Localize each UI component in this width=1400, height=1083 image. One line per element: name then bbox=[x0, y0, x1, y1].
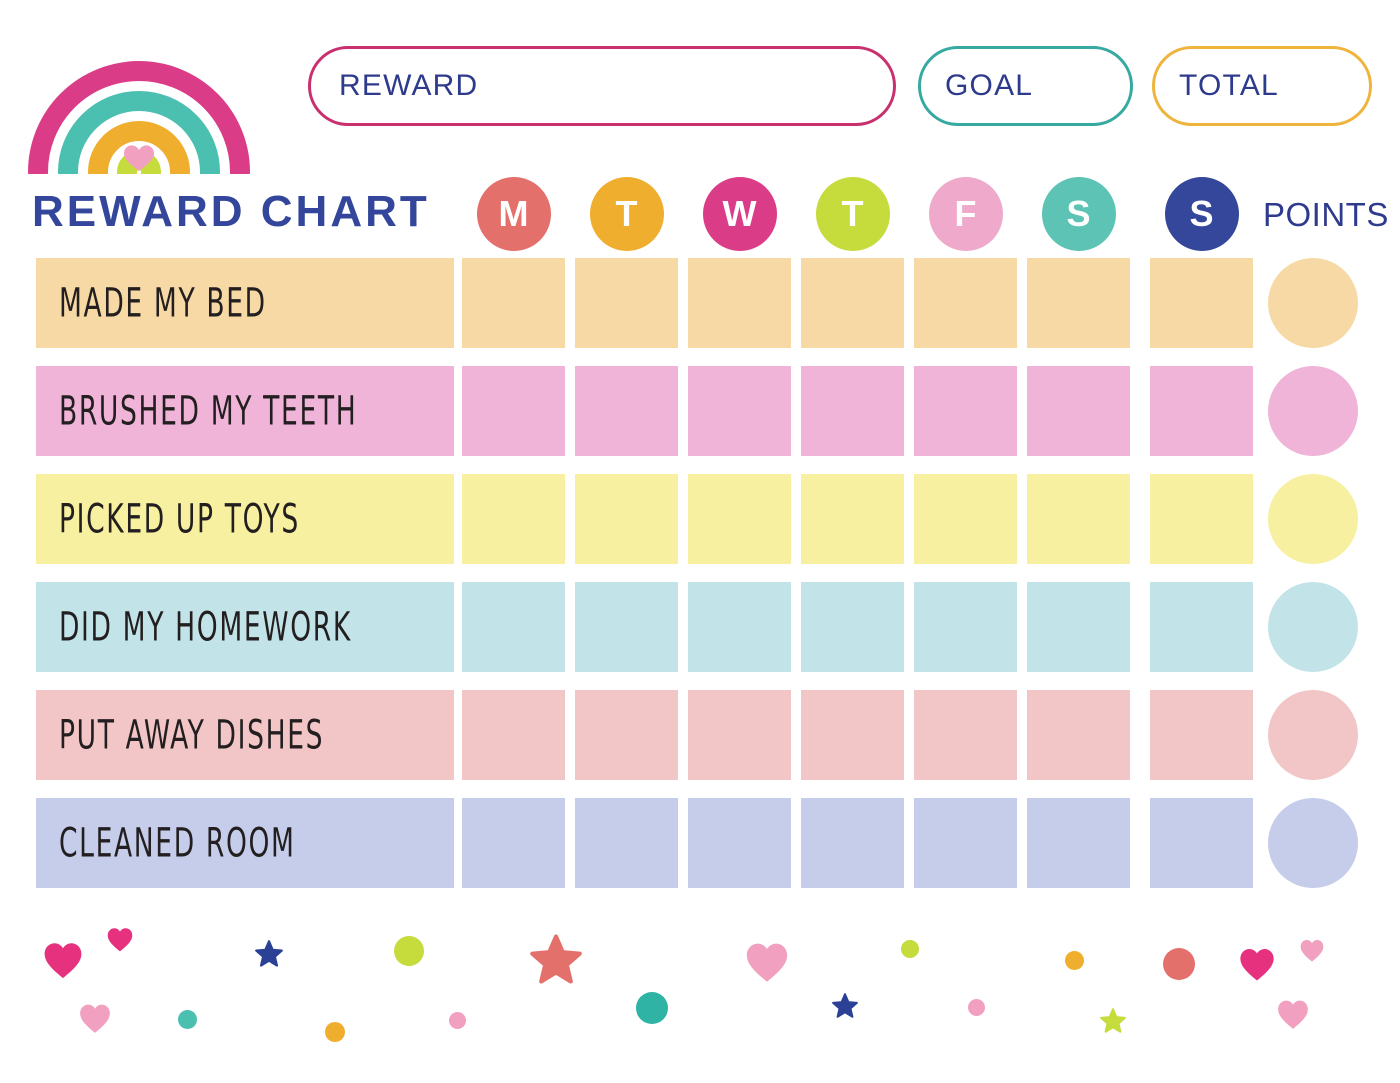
star-coral-icon bbox=[530, 934, 582, 991]
checkbox-cell-monday[interactable] bbox=[462, 474, 565, 564]
checkbox-cell-friday[interactable] bbox=[914, 474, 1017, 564]
checkbox-cell-tuesday[interactable] bbox=[575, 690, 678, 780]
header-bar: REWARD GOAL TOTAL bbox=[0, 0, 1400, 175]
reward-input[interactable]: REWARD bbox=[308, 46, 896, 126]
day-letter: T bbox=[616, 193, 638, 235]
points-circle[interactable] bbox=[1268, 474, 1358, 564]
table-row: PUT AWAY DISHES bbox=[0, 690, 1400, 780]
task-label: BRUSHED MY TEETH bbox=[36, 388, 357, 434]
checkbox-cell-wednesday[interactable] bbox=[688, 366, 791, 456]
day-letter: F bbox=[955, 193, 977, 235]
points-circle[interactable] bbox=[1268, 582, 1358, 672]
points-circle[interactable] bbox=[1268, 690, 1358, 780]
checkbox-cell-friday[interactable] bbox=[914, 258, 1017, 348]
heart-pink-icon bbox=[1299, 938, 1325, 969]
checkbox-cell-saturday[interactable] bbox=[1027, 366, 1130, 456]
day-letter: S bbox=[1066, 193, 1090, 235]
checkbox-cell-thursday[interactable] bbox=[801, 474, 904, 564]
day-circle-sunday[interactable]: S bbox=[1165, 177, 1239, 251]
dot-teal-icon bbox=[636, 992, 668, 1024]
task-label-cell[interactable]: PICKED UP TOYS bbox=[36, 474, 454, 564]
checkbox-cell-thursday[interactable] bbox=[801, 582, 904, 672]
task-label-cell[interactable]: PUT AWAY DISHES bbox=[36, 690, 454, 780]
task-label-cell[interactable]: DID MY HOMEWORK bbox=[36, 582, 454, 672]
day-circle-monday[interactable]: M bbox=[477, 177, 551, 251]
checkbox-cell-monday[interactable] bbox=[462, 258, 565, 348]
star-navy-icon bbox=[832, 993, 858, 1024]
dot-lime-icon bbox=[394, 936, 424, 966]
checkbox-cell-saturday[interactable] bbox=[1027, 798, 1130, 888]
total-input[interactable]: TOTAL bbox=[1152, 46, 1372, 126]
day-circle-friday[interactable]: F bbox=[929, 177, 1003, 251]
task-label-cell[interactable]: MADE MY BED bbox=[36, 258, 454, 348]
checkbox-cell-thursday[interactable] bbox=[801, 258, 904, 348]
checkbox-cell-friday[interactable] bbox=[914, 582, 1017, 672]
heart-pink-icon bbox=[78, 1002, 112, 1041]
checkbox-cell-saturday[interactable] bbox=[1027, 690, 1130, 780]
checkbox-cell-wednesday[interactable] bbox=[688, 798, 791, 888]
goal-input-label: GOAL bbox=[921, 69, 1033, 103]
checkbox-cell-saturday[interactable] bbox=[1027, 582, 1130, 672]
day-letter: S bbox=[1189, 193, 1213, 235]
heart-magenta-icon bbox=[1238, 946, 1276, 989]
dot-coral-icon bbox=[1163, 948, 1195, 980]
decoration-layer bbox=[0, 910, 1400, 1083]
reward-input-label: REWARD bbox=[311, 69, 478, 103]
dot-amber-icon bbox=[325, 1022, 345, 1042]
heart-pink-icon bbox=[744, 940, 790, 991]
checkbox-cell-sunday[interactable] bbox=[1150, 690, 1253, 780]
points-circle[interactable] bbox=[1268, 258, 1358, 348]
day-circle-saturday[interactable]: S bbox=[1042, 177, 1116, 251]
table-row: DID MY HOMEWORK bbox=[0, 582, 1400, 672]
checkbox-cell-tuesday[interactable] bbox=[575, 258, 678, 348]
day-letter: M bbox=[499, 193, 529, 235]
table-row: CLEANED ROOM bbox=[0, 798, 1400, 888]
goal-input[interactable]: GOAL bbox=[918, 46, 1133, 126]
task-label: PUT AWAY DISHES bbox=[36, 712, 324, 758]
checkbox-cell-wednesday[interactable] bbox=[688, 258, 791, 348]
checkbox-cell-sunday[interactable] bbox=[1150, 474, 1253, 564]
checkbox-cell-saturday[interactable] bbox=[1027, 474, 1130, 564]
total-input-label: TOTAL bbox=[1155, 69, 1279, 103]
checkbox-cell-wednesday[interactable] bbox=[688, 582, 791, 672]
points-column-header: POINTS bbox=[1263, 196, 1389, 234]
checkbox-cell-sunday[interactable] bbox=[1150, 366, 1253, 456]
checkbox-cell-tuesday[interactable] bbox=[575, 366, 678, 456]
day-letter: W bbox=[723, 193, 757, 235]
points-circle[interactable] bbox=[1268, 798, 1358, 888]
day-letter: T bbox=[842, 193, 864, 235]
checkbox-cell-saturday[interactable] bbox=[1027, 258, 1130, 348]
checkbox-cell-wednesday[interactable] bbox=[688, 474, 791, 564]
checkbox-cell-thursday[interactable] bbox=[801, 690, 904, 780]
dot-amber-icon bbox=[1065, 951, 1084, 970]
task-label-cell[interactable]: CLEANED ROOM bbox=[36, 798, 454, 888]
checkbox-cell-tuesday[interactable] bbox=[575, 474, 678, 564]
chart-grid: MADE MY BEDBRUSHED MY TEETHPICKED UP TOY… bbox=[0, 258, 1400, 908]
table-row: MADE MY BED bbox=[0, 258, 1400, 348]
heart-magenta-icon bbox=[42, 940, 84, 987]
checkbox-cell-wednesday[interactable] bbox=[688, 690, 791, 780]
task-label: DID MY HOMEWORK bbox=[36, 604, 352, 650]
table-row: PICKED UP TOYS bbox=[0, 474, 1400, 564]
task-label: CLEANED ROOM bbox=[36, 820, 296, 866]
checkbox-cell-thursday[interactable] bbox=[801, 366, 904, 456]
dot-pink-icon bbox=[968, 999, 985, 1016]
day-circle-thursday[interactable]: T bbox=[816, 177, 890, 251]
checkbox-cell-monday[interactable] bbox=[462, 690, 565, 780]
star-lime-icon bbox=[1100, 1008, 1126, 1039]
checkbox-cell-sunday[interactable] bbox=[1150, 582, 1253, 672]
task-label-cell[interactable]: BRUSHED MY TEETH bbox=[36, 366, 454, 456]
task-label: MADE MY BED bbox=[36, 280, 267, 326]
dot-lime-icon bbox=[901, 940, 919, 958]
checkbox-cell-friday[interactable] bbox=[914, 366, 1017, 456]
heart-magenta-icon bbox=[106, 926, 134, 959]
table-row: BRUSHED MY TEETH bbox=[0, 366, 1400, 456]
star-navy-icon bbox=[255, 940, 283, 973]
checkbox-cell-sunday[interactable] bbox=[1150, 798, 1253, 888]
checkbox-cell-monday[interactable] bbox=[462, 582, 565, 672]
checkbox-cell-tuesday[interactable] bbox=[575, 582, 678, 672]
checkbox-cell-sunday[interactable] bbox=[1150, 258, 1253, 348]
checkbox-cell-monday[interactable] bbox=[462, 798, 565, 888]
checkbox-cell-friday[interactable] bbox=[914, 690, 1017, 780]
checkbox-cell-monday[interactable] bbox=[462, 366, 565, 456]
dot-teal-icon bbox=[178, 1010, 197, 1029]
points-circle[interactable] bbox=[1268, 366, 1358, 456]
reward-chart-page: REWARD GOAL TOTAL REWARD CHART MTWTFSS P… bbox=[0, 0, 1400, 1083]
heart-pink-icon bbox=[1276, 998, 1310, 1037]
day-header-row: MTWTFSS bbox=[0, 174, 1400, 256]
task-label: PICKED UP TOYS bbox=[36, 496, 300, 542]
checkbox-cell-tuesday[interactable] bbox=[575, 798, 678, 888]
day-circle-wednesday[interactable]: W bbox=[703, 177, 777, 251]
checkbox-cell-thursday[interactable] bbox=[801, 798, 904, 888]
day-circle-tuesday[interactable]: T bbox=[590, 177, 664, 251]
rainbow-icon bbox=[28, 22, 250, 174]
dot-pink-icon bbox=[449, 1012, 466, 1029]
checkbox-cell-friday[interactable] bbox=[914, 798, 1017, 888]
